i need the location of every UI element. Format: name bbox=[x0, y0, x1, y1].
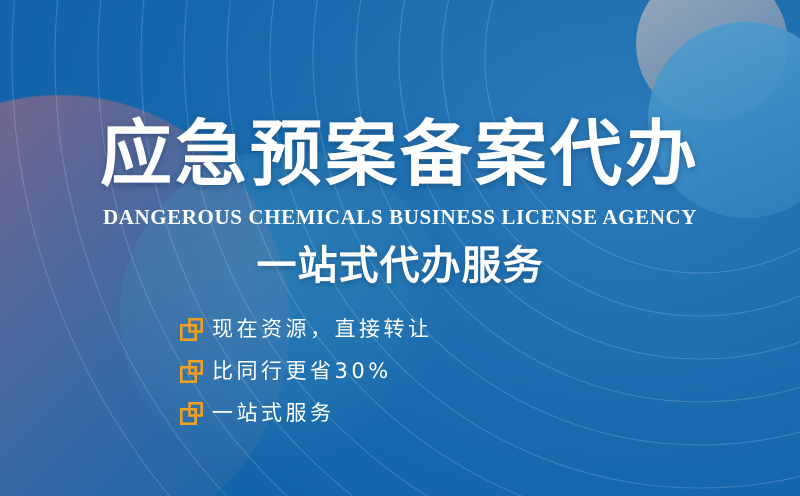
list-item-label: 现在资源，直接转让 bbox=[212, 318, 433, 341]
feature-list: 现在资源，直接转让 比同行更省30% 一站式服务 bbox=[180, 316, 433, 426]
page-title: 应急预案备案代办 bbox=[0, 118, 800, 190]
list-item-label: 一站式服务 bbox=[212, 402, 335, 425]
page-subtitle-chinese: 一站式代办服务 bbox=[0, 246, 800, 286]
banner-root: 应急预案备案代办 DANGEROUS CHEMICALS BUSINESS LI… bbox=[0, 0, 800, 496]
list-item: 现在资源，直接转让 bbox=[180, 316, 433, 342]
list-item-label: 比同行更省30% bbox=[212, 360, 392, 383]
page-subtitle-english: DANGEROUS CHEMICALS BUSINESS LICENSE AGE… bbox=[0, 205, 800, 230]
list-item: 一站式服务 bbox=[180, 400, 433, 426]
overlapping-squares-icon bbox=[180, 318, 203, 341]
overlapping-squares-icon bbox=[180, 402, 203, 425]
banner-content: 应急预案备案代办 DANGEROUS CHEMICALS BUSINESS LI… bbox=[0, 0, 800, 496]
list-item: 比同行更省30% bbox=[180, 358, 433, 384]
overlapping-squares-icon bbox=[180, 360, 203, 383]
